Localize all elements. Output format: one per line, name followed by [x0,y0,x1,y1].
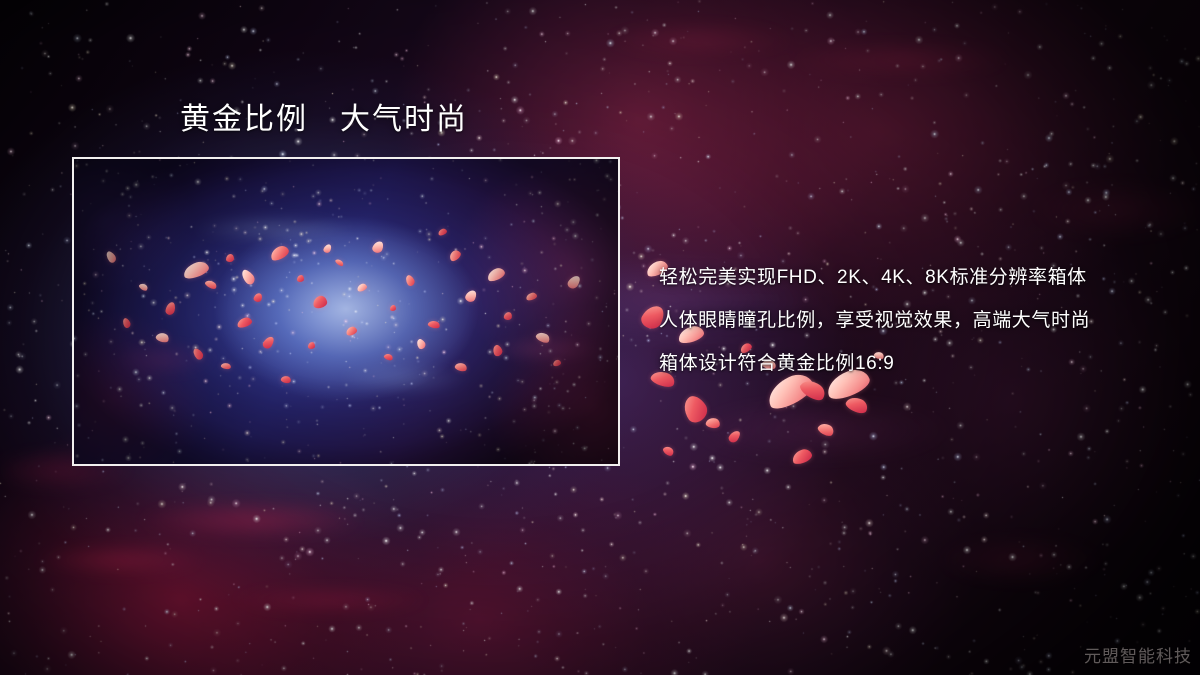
frame-vignette [74,159,618,464]
slide-title: 黄金比例 大气时尚 [180,103,468,136]
presentation-slide: 黄金比例 大气时尚 轻松完美实现FHD、2K、4K、8K标准分辨率箱体 人体眼睛… [0,0,1200,675]
company-watermark: 元盟智能科技 [1084,642,1192,667]
framed-product-image [72,157,620,466]
feature-line-1: 轻松完美实现FHD、2K、4K、8K标准分辨率箱体 [659,256,1179,299]
feature-line-3: 箱体设计符合黄金比例16:9 [659,342,1179,385]
feature-description-block: 轻松完美实现FHD、2K、4K、8K标准分辨率箱体 人体眼睛瞳孔比例，享受视觉效… [659,256,1179,385]
feature-line-2: 人体眼睛瞳孔比例，享受视觉效果，高端大气时尚 [659,299,1179,342]
